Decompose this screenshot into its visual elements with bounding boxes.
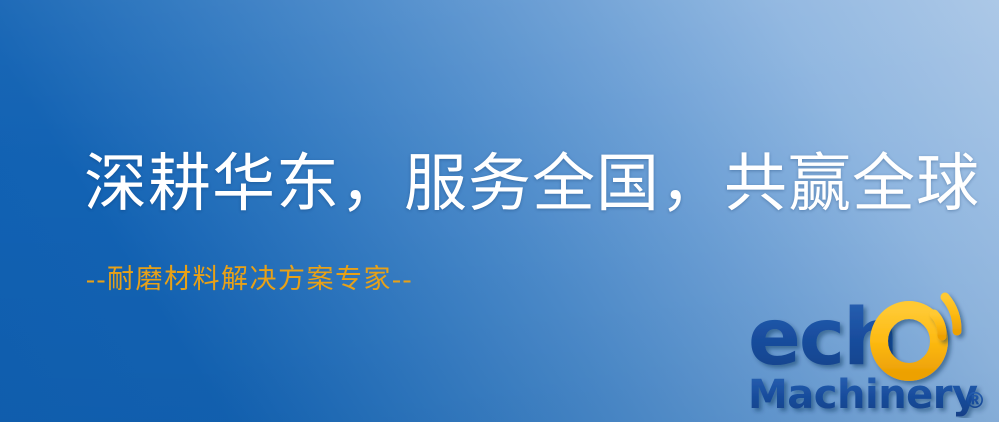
- logo-tagline: Machinery ®: [748, 372, 986, 418]
- banner-subtitle: --耐磨材料解决方案专家--: [86, 264, 413, 295]
- logo-signal-arcs: [934, 297, 957, 336]
- banner-headline: 深耕华东，服务全国，共赢全球: [84, 150, 980, 218]
- logo-letter-o: [879, 310, 939, 372]
- echo-machinery-logo: ech Machinery ®: [742, 292, 994, 418]
- promo-banner: 深耕华东，服务全国，共赢全球 --耐磨材料解决方案专家--: [0, 0, 999, 422]
- svg-text:Machinery: Machinery: [748, 372, 978, 418]
- svg-text:®: ®: [964, 389, 986, 414]
